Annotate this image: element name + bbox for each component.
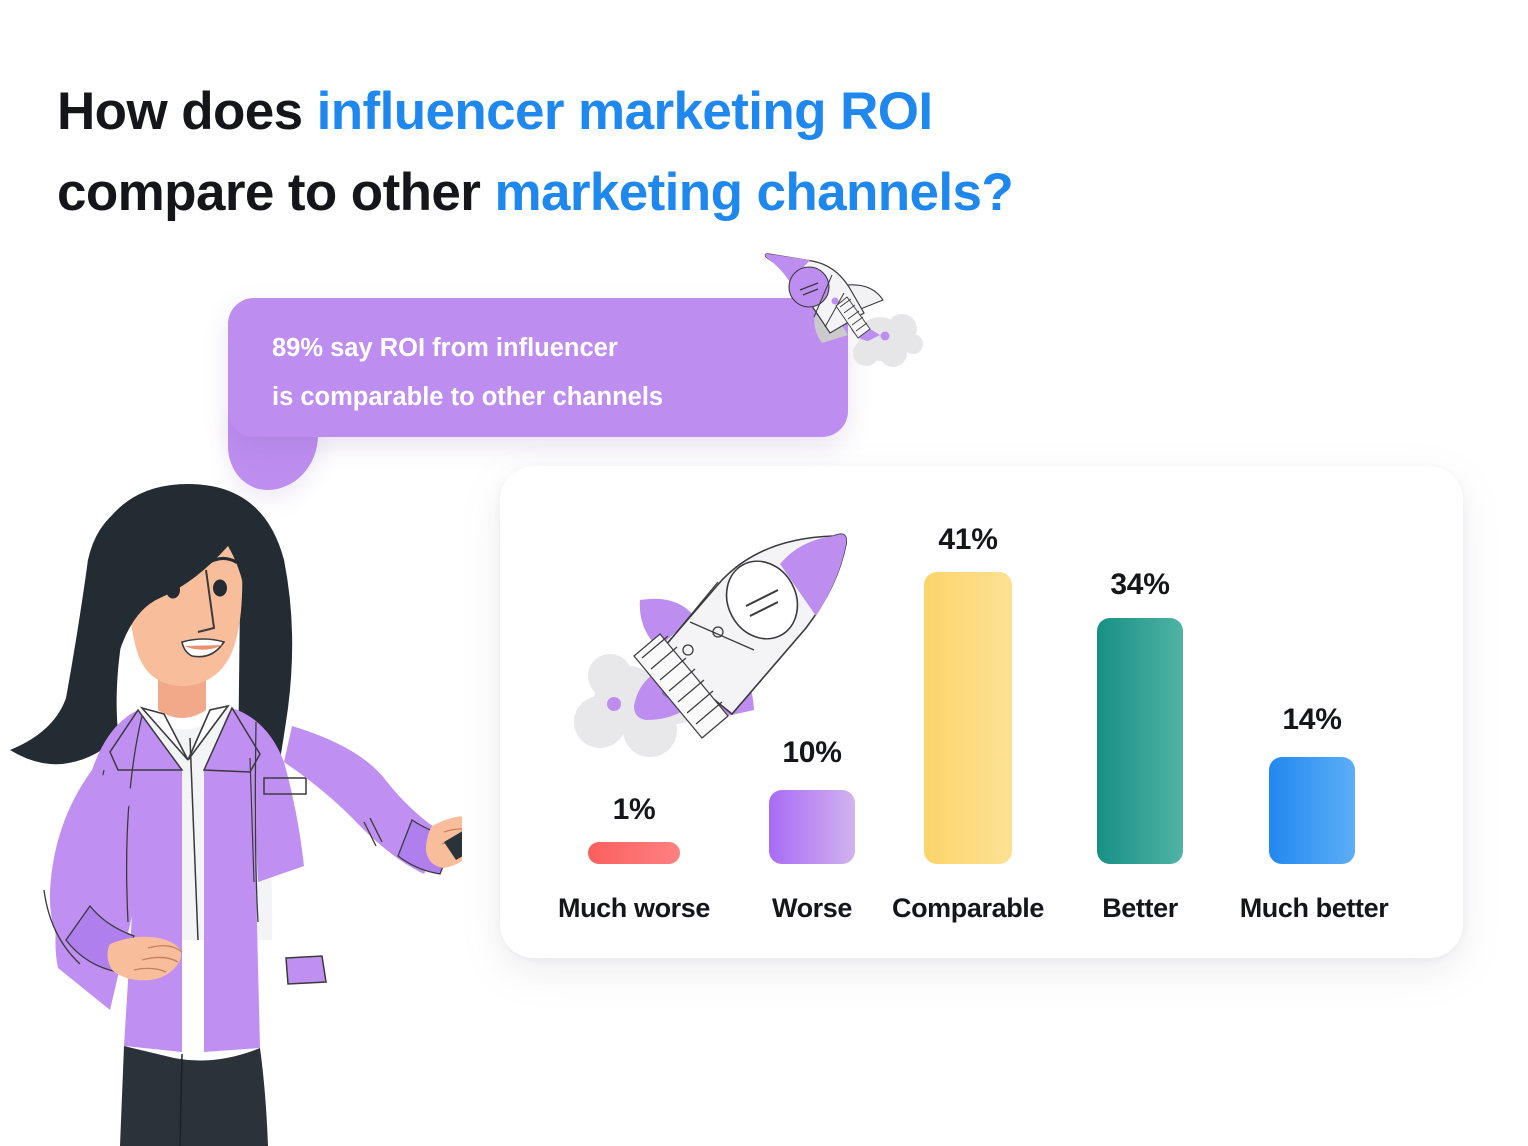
title-line1-accent: influencer marketing ROI <box>317 82 933 141</box>
infographic-root: How does influencer marketing ROI compar… <box>0 0 1528 1146</box>
rocket-icon <box>752 243 932 378</box>
bar-much-better <box>1269 757 1355 864</box>
bubble-line-1: 89% say ROI from influencer <box>272 324 812 373</box>
page-title: How does influencer marketing ROI compar… <box>57 72 1207 233</box>
category-label-much-better: Much better <box>1218 893 1410 924</box>
title-line2-accent: marketing channels? <box>494 163 1013 222</box>
bar-much-worse <box>588 842 680 864</box>
category-label-better: Better <box>1075 893 1205 924</box>
bar-worse <box>769 790 855 864</box>
title-line2-plain: compare to other <box>57 163 494 222</box>
bar-comparable <box>924 572 1012 864</box>
title-line1-plain: How does <box>57 82 317 141</box>
bar-better <box>1097 618 1183 864</box>
rocket-icon <box>566 524 862 764</box>
woman-presenter-illustration <box>0 470 462 1146</box>
bubble-text: 89% say ROI from influencer is comparabl… <box>272 324 812 422</box>
category-label-comparable: Comparable <box>878 893 1058 924</box>
bar-value-much-worse: 1% <box>588 793 680 827</box>
bar-value-worse: 10% <box>766 736 858 770</box>
category-label-much-worse: Much worse <box>538 893 730 924</box>
bar-value-much-better: 14% <box>1266 703 1358 737</box>
bar-value-better: 34% <box>1094 568 1186 602</box>
category-label-worse: Worse <box>742 893 882 924</box>
bubble-line-2: is comparable to other channels <box>272 373 812 422</box>
bar-value-comparable: 41% <box>922 523 1014 557</box>
